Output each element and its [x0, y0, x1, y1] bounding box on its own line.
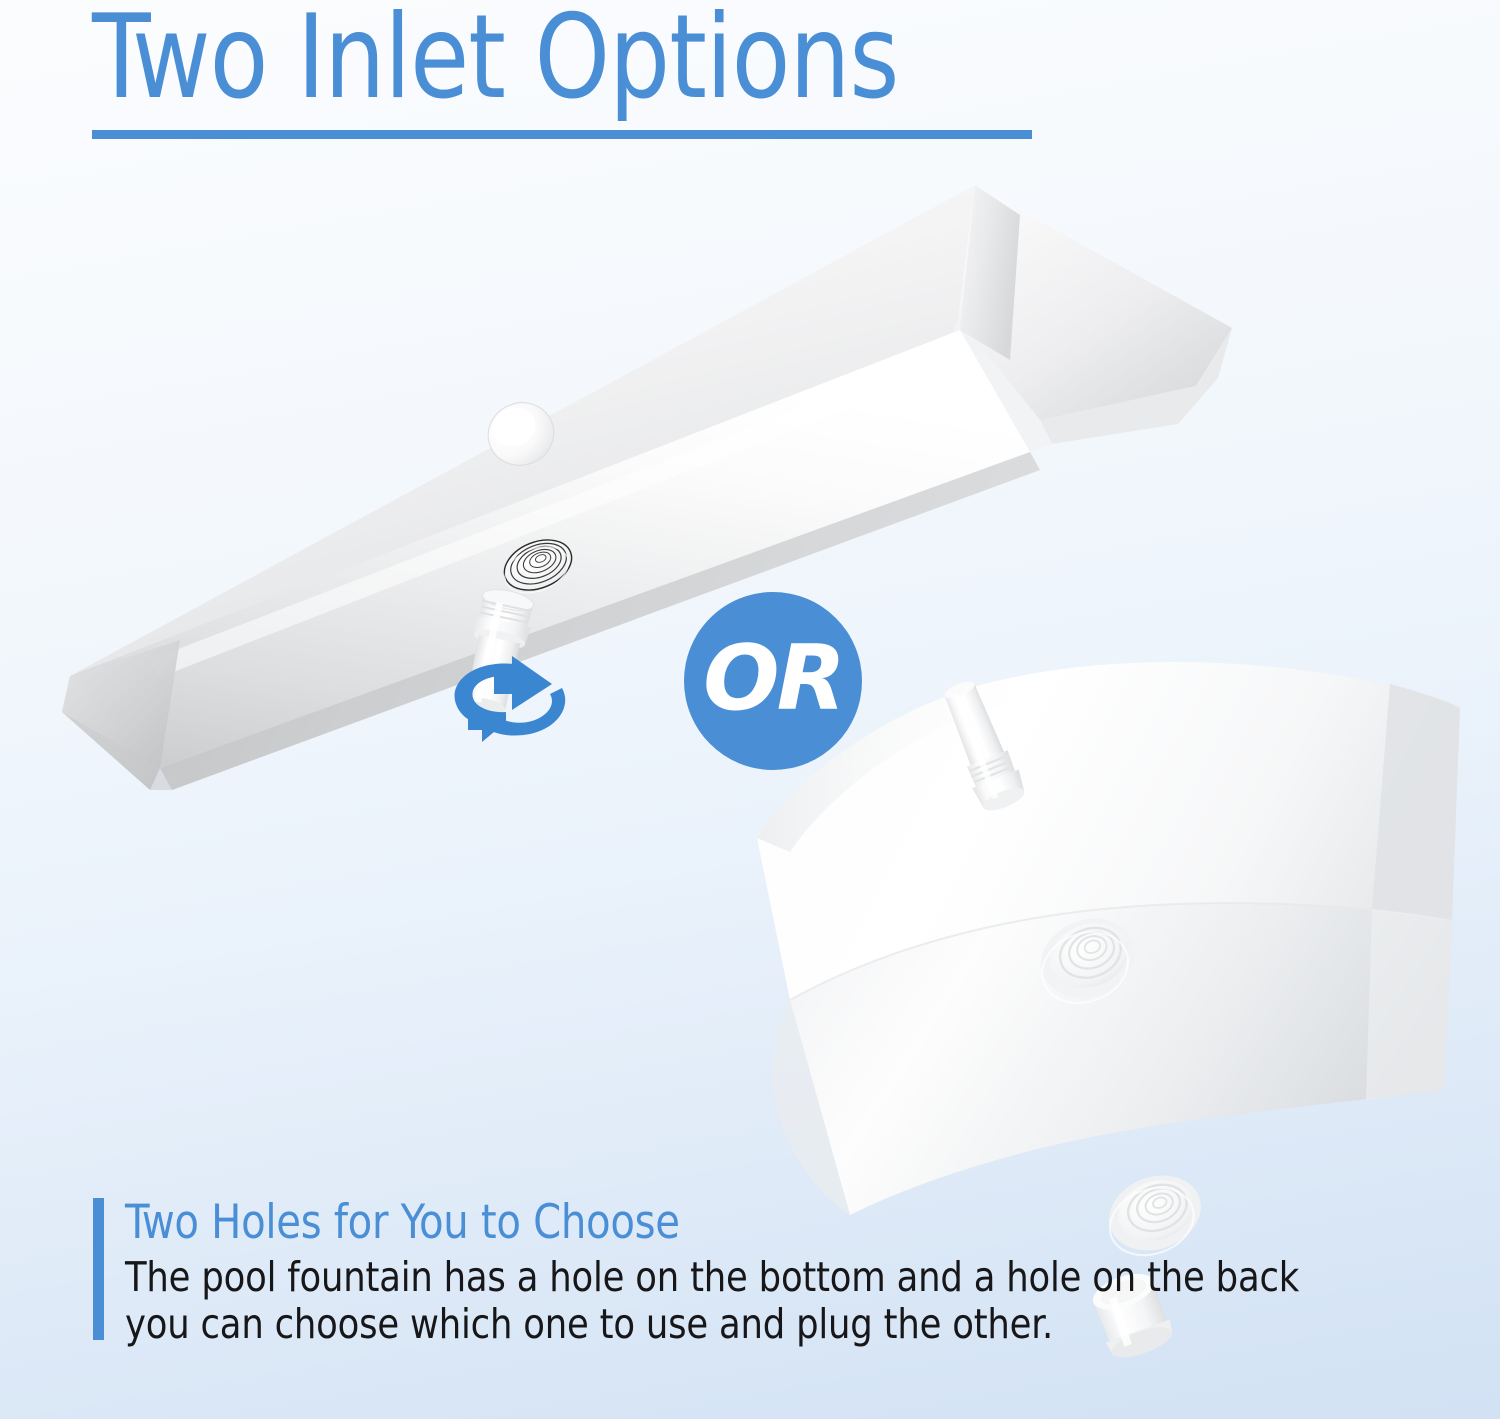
or-badge-label: OR: [703, 634, 843, 724]
bottom-product-threaded-socket-upper: [1028, 906, 1147, 1015]
title-underline-rule: [92, 130, 1032, 139]
caption-body-line-2: you can choose which one to use and plug…: [125, 1301, 1258, 1348]
page-title: Two Inlet Options: [92, 2, 1012, 114]
caption-heading: Two Holes for You to Choose: [125, 1196, 1246, 1250]
page-title-block: Two Inlet Options: [92, 2, 1092, 114]
caption-block: Two Holes for You to Choose The pool fou…: [93, 1196, 1305, 1348]
top-product-illustration: [62, 185, 1232, 790]
caption-body-line-1: The pool fountain has a hole on the bott…: [125, 1254, 1258, 1301]
top-product-threaded-socket: [496, 531, 580, 602]
bottom-product-hose-connector: [934, 675, 1030, 816]
infographic-page: Two Inlet Options: [0, 0, 1500, 1419]
top-product-hose-connector: [457, 585, 538, 718]
caption-accent-bar: [93, 1198, 104, 1340]
top-product-bottom-plug: [479, 393, 563, 475]
or-divider-badge: OR: [684, 592, 862, 770]
rotate-arrow-icon: [455, 656, 566, 742]
caption-body: The pool fountain has a hole on the bott…: [125, 1254, 1258, 1348]
